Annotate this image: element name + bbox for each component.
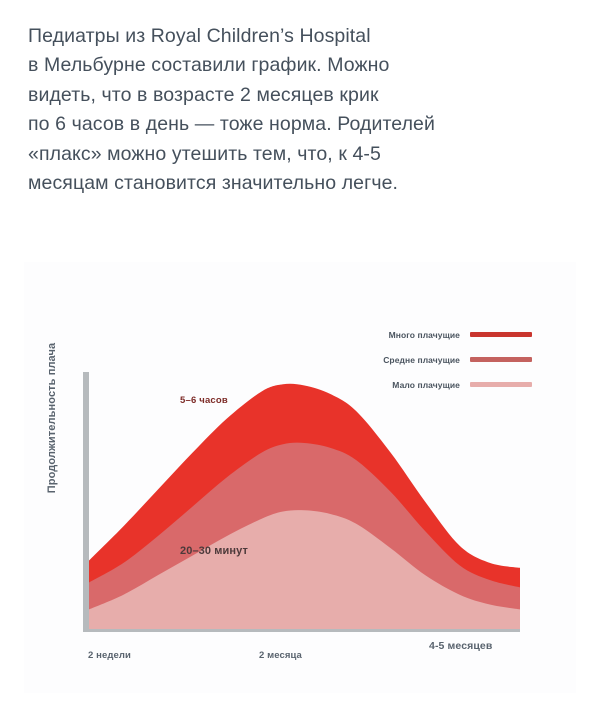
article-text-block: Педиатры из Royal Children’s Hospital в …	[0, 0, 600, 198]
y-axis-line	[83, 372, 89, 626]
legend-label-malo: Мало плачущие	[356, 380, 470, 390]
legend-item-mnogo: Много плачущие	[356, 324, 556, 345]
legend-label-mnogo: Много плачущие	[356, 330, 470, 340]
legend-swatch-mnogo	[470, 332, 532, 337]
legend-label-sredne: Средне плачущие	[356, 355, 470, 365]
chart-figure-card: 5–6 часов 20–30 минут Продолжительность …	[24, 262, 576, 693]
x-tick-label-4-5-months: 4-5 месяцев	[429, 640, 492, 652]
legend-swatch-sredne	[470, 357, 532, 362]
annotation-lower-band: 20–30 минут	[180, 545, 248, 557]
chart-legend: Много плачущие Средне плачущие Мало плач…	[356, 324, 556, 399]
legend-swatch-malo	[470, 382, 532, 387]
legend-item-malo: Мало плачущие	[356, 374, 556, 395]
x-tick-label-2-months: 2 месяца	[259, 650, 302, 661]
legend-item-sredne: Средне плачущие	[356, 349, 556, 370]
article-paragraph: Педиатры из Royal Children’s Hospital в …	[28, 22, 574, 198]
annotation-upper-band: 5–6 часов	[180, 395, 228, 406]
chart-area-bands	[89, 384, 520, 629]
x-tick-label-2-weeks: 2 недели	[88, 650, 131, 661]
y-axis-title: Продолжительность плача	[46, 338, 58, 498]
